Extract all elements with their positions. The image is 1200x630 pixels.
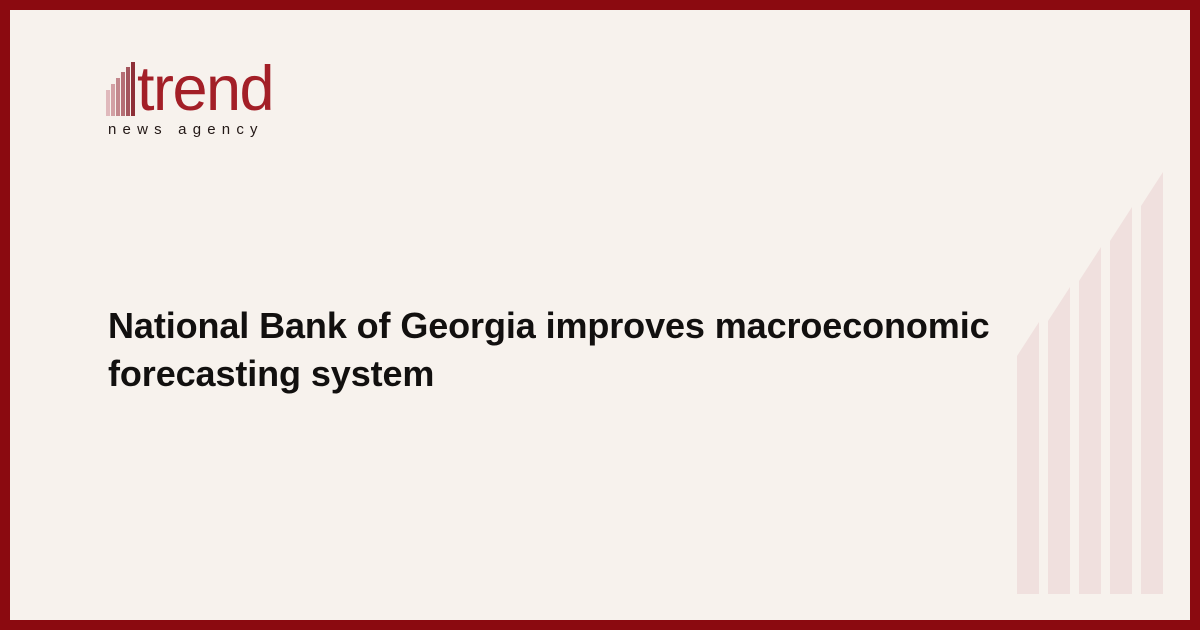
watermark-bar: [1048, 287, 1070, 594]
logo-bar: [121, 72, 125, 116]
ascending-bars-icon: [106, 62, 136, 116]
logo-bar: [126, 67, 130, 116]
watermark-bar: [1110, 207, 1132, 594]
logo-mark-row: trend: [106, 58, 306, 116]
logo-tagline: news agency: [108, 121, 306, 138]
trend-news-agency-logo[interactable]: trend news agency: [106, 58, 306, 138]
watermark-bar: [1079, 247, 1101, 594]
logo-bar: [111, 84, 115, 116]
article-headline: National Bank of Georgia improves macroe…: [108, 302, 1043, 398]
social-share-card: trend news agency National Bank of Georg…: [0, 0, 1200, 630]
logo-wordmark: trend: [137, 64, 273, 116]
logo-bar: [131, 62, 135, 116]
logo-bar: [116, 78, 120, 116]
watermark-bar: [1141, 172, 1163, 594]
logo-bar: [106, 90, 110, 116]
